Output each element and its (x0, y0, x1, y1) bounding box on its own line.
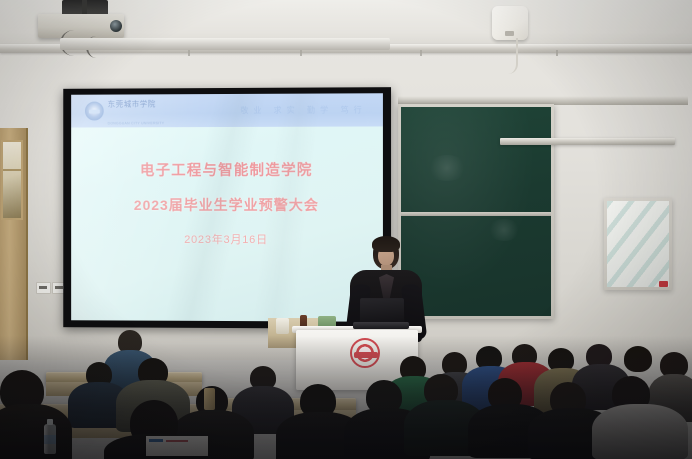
university-crest-icon (85, 102, 104, 121)
notice-board-label (659, 281, 668, 287)
water-bottle (44, 424, 56, 454)
slide-body: 电子工程与智能制造学院 2023届毕业生学业预警大会 2023年3月16日 (71, 126, 383, 321)
slide-title-line-1: 电子工程与智能制造学院 (71, 159, 383, 181)
handout-paper (146, 436, 208, 456)
desk-tumbler (204, 388, 215, 410)
school-emblem-icon (350, 338, 380, 368)
rail-seam (420, 50, 422, 56)
chalk-smudge (487, 219, 521, 241)
laptop-keyboard[interactable] (353, 322, 409, 329)
light-switch[interactable] (36, 282, 51, 294)
slide-title-line-2: 2023届毕业生学业预警大会 (71, 195, 383, 215)
university-logo: 东莞城市学院 DONGGUAN CITY UNIVERSITY (85, 93, 164, 129)
projection-screen: 东莞城市学院 DONGGUAN CITY UNIVERSITY 敬业 求实 勤学… (63, 87, 391, 329)
screen-housing (60, 38, 390, 50)
projector-lens-icon (110, 20, 122, 32)
bottle-label (44, 435, 56, 444)
rail-seam (300, 50, 302, 56)
door-window (1, 140, 23, 220)
audience-body (592, 404, 688, 459)
desk-cup (276, 318, 289, 334)
projected-slide: 东莞城市学院 DONGGUAN CITY UNIVERSITY 敬业 求实 勤学… (71, 93, 383, 322)
notice-board (604, 198, 672, 290)
audience-body (0, 404, 72, 459)
lecture-hall-photo: 东莞城市学院 DONGGUAN CITY UNIVERSITY 敬业 求实 勤学… (0, 0, 692, 459)
rail-seam (556, 50, 558, 56)
rail-seam (188, 50, 190, 56)
presenter-laptop[interactable] (360, 298, 404, 324)
slide-date-line: 2023年3月16日 (71, 231, 383, 247)
university-logo-text: 东莞城市学院 DONGGUAN CITY UNIVERSITY (108, 93, 165, 129)
notice-board-surface (607, 201, 669, 287)
wall-mounted-speaker (492, 6, 528, 40)
blackboard-divider (401, 212, 551, 216)
speaker-cable (506, 38, 518, 74)
chalk-ledge (500, 138, 675, 145)
university-motto: 敬业 求实 勤学 笃行 (240, 104, 366, 116)
chalk-smudge (427, 155, 467, 181)
slide-header-band: 东莞城市学院 DONGGUAN CITY UNIVERSITY 敬业 求实 勤学… (71, 93, 383, 127)
presenter-hair (372, 236, 400, 252)
